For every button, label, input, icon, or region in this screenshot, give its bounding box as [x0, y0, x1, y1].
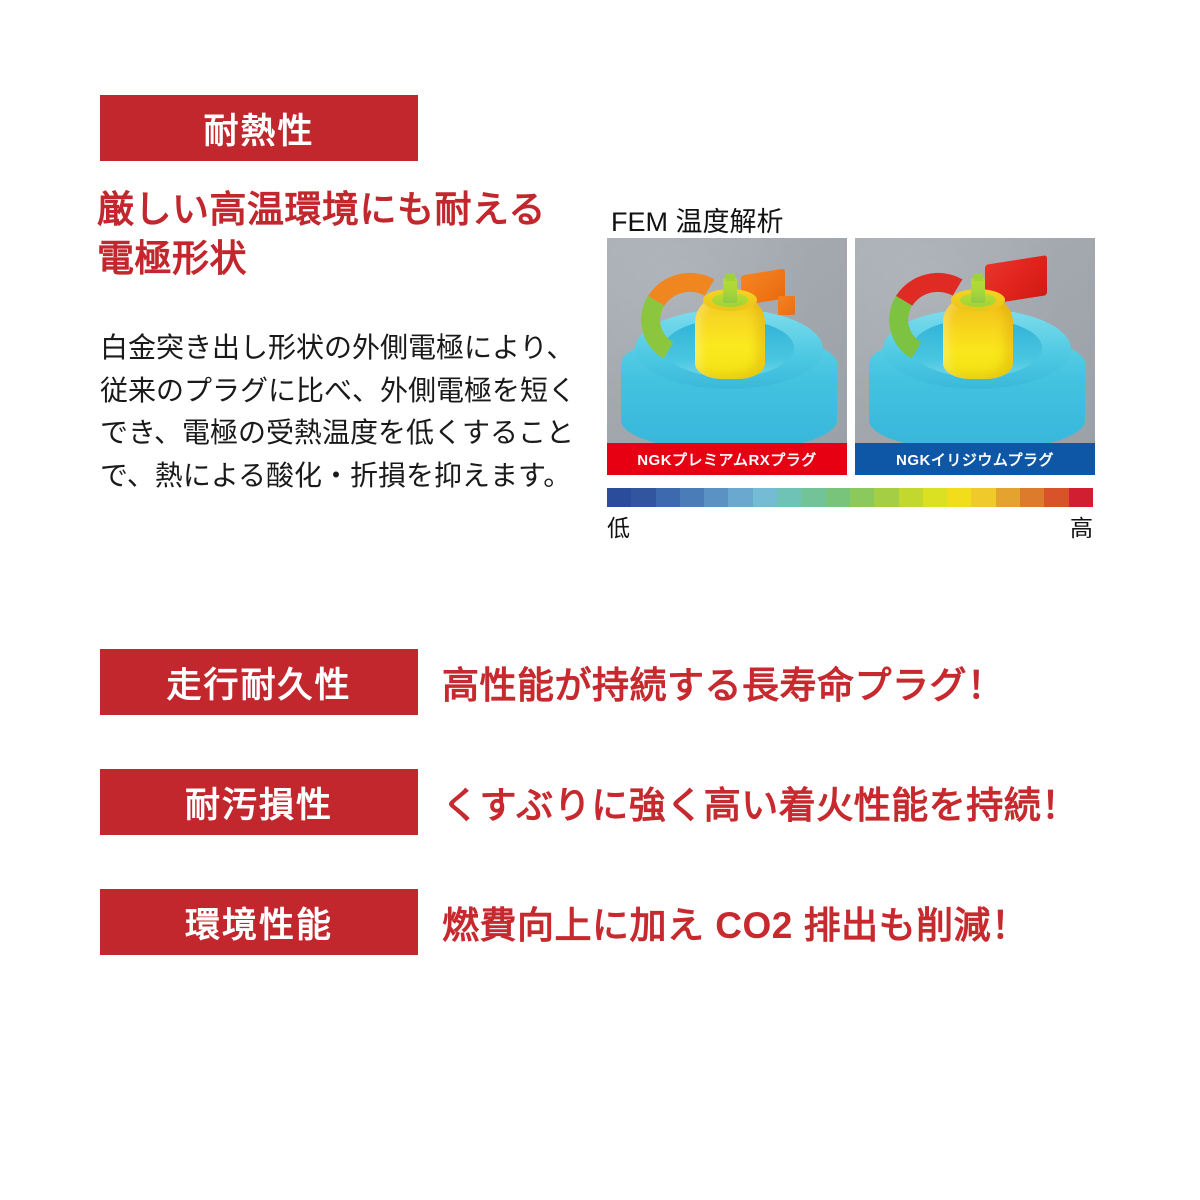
colorbar-segment-8: [801, 488, 825, 507]
center-electrode-tip-icon: [725, 273, 735, 281]
center-electrode-tip-icon: [973, 273, 983, 281]
fem-title: FEM 温度解析: [611, 200, 784, 239]
ground-electrode-nub-icon: [778, 296, 795, 315]
body-paragraph: 白金突き出し形状の外側電極により、従来のプラグに比べ、外側電極を短くでき、電極の…: [100, 327, 585, 497]
colorbar-segment-7: [777, 488, 801, 507]
colorbar-segment-17: [1020, 488, 1044, 507]
colorbar-segment-5: [728, 488, 752, 507]
fem-caption-iridium: NGKイリジウムプラグ: [855, 443, 1095, 475]
feature-badge: 走行耐久性: [100, 649, 418, 715]
colorbar-segment-9: [826, 488, 850, 507]
section-badge-heat-resistance: 耐熱性: [100, 95, 418, 161]
colorbar-segment-13: [923, 488, 947, 507]
temperature-colorbar: [607, 488, 1093, 507]
feature-description: 高性能が持続する長寿命プラグ！: [442, 655, 1005, 709]
colorbar-segment-12: [899, 488, 923, 507]
colorbar-segment-14: [947, 488, 971, 507]
scale-high-label: 高: [1070, 509, 1093, 543]
feature-description: くすぶりに強く高い着火性能を持続！: [442, 775, 1079, 829]
colorbar-segment-19: [1069, 488, 1093, 507]
page-title: 厳しい高温環境にも耐える 電極形状: [97, 186, 567, 284]
scale-low-label: 低: [607, 509, 630, 543]
fem-thermal-image-iridium: [855, 238, 1095, 443]
colorbar-segment-3: [680, 488, 704, 507]
feature-badge: 耐汚損性: [100, 769, 418, 835]
colorbar-segment-10: [850, 488, 874, 507]
colorbar-segment-4: [704, 488, 728, 507]
fem-thermal-image-rx: [607, 238, 847, 443]
page-root: 耐熱性 厳しい高温環境にも耐える 電極形状 白金突き出し形状の外側電極により、従…: [0, 0, 1200, 1200]
feature-row-durability: 走行耐久性 高性能が持続する長寿命プラグ！: [100, 649, 1005, 715]
colorbar-segment-6: [753, 488, 777, 507]
fem-panel-premium-rx: NGKプレミアムRXプラグ: [607, 238, 847, 475]
colorbar-segment-18: [1044, 488, 1068, 507]
temperature-scale-labels: 低 高: [607, 509, 1093, 539]
colorbar-segment-15: [971, 488, 995, 507]
colorbar-segment-11: [874, 488, 898, 507]
colorbar-segment-16: [996, 488, 1020, 507]
section-badge-label: 耐熱性: [203, 103, 314, 154]
colorbar-segment-2: [656, 488, 680, 507]
colorbar-segment-0: [607, 488, 631, 507]
fem-panel-list: NGKプレミアムRXプラグ NGKイリジウムプラグ: [607, 238, 1095, 475]
fem-panel-iridium: NGKイリジウムプラグ: [855, 238, 1095, 475]
fem-analysis-block: NGKプレミアムRXプラグ NGKイリジウムプラグ: [607, 238, 1095, 539]
feature-description: 燃費向上に加え CO2 排出も削減！: [442, 895, 1029, 949]
feature-row-environmental: 環境性能 燃費向上に加え CO2 排出も削減！: [100, 889, 1029, 955]
fem-caption-rx: NGKプレミアムRXプラグ: [607, 443, 847, 475]
colorbar-segment-1: [631, 488, 655, 507]
feature-row-fouling-resistance: 耐汚損性 くすぶりに強く高い着火性能を持続！: [100, 769, 1079, 835]
feature-badge: 環境性能: [100, 889, 418, 955]
